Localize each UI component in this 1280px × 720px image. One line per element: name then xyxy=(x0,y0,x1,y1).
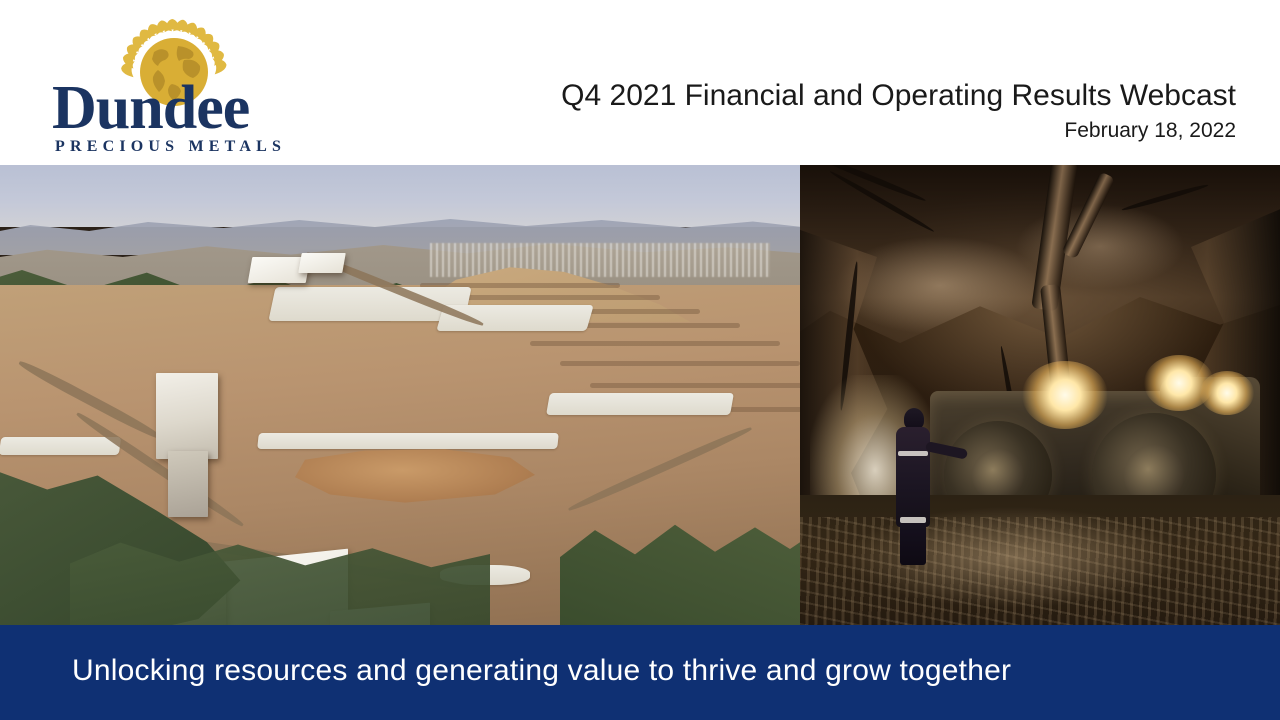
presentation-slide: Dundee PRECIOUS METALS Q4 2021 Financial… xyxy=(0,0,1280,720)
company-logo: Dundee PRECIOUS METALS xyxy=(52,12,297,157)
tailings-liner-pad xyxy=(546,393,734,415)
bench-line xyxy=(530,341,780,346)
slide-header: Dundee PRECIOUS METALS Q4 2021 Financial… xyxy=(0,0,1280,165)
site-building xyxy=(298,253,346,273)
logo-wordmark: Dundee xyxy=(52,82,297,134)
logo-tagline: PRECIOUS METALS xyxy=(55,138,295,156)
headframe-building xyxy=(156,373,218,459)
bench-line xyxy=(440,295,660,300)
banner-tagline: Unlocking resources and generating value… xyxy=(72,649,1011,693)
aerial-mine-site-photo xyxy=(0,165,800,625)
distant-town xyxy=(430,243,770,277)
bench-line xyxy=(590,383,800,388)
truck-marker-light xyxy=(1200,371,1254,415)
title-block: Q4 2021 Financial and Operating Results … xyxy=(456,78,1236,144)
photo-band xyxy=(0,165,1280,625)
miner-legs xyxy=(900,517,926,565)
slide-title: Q4 2021 Financial and Operating Results … xyxy=(456,78,1236,114)
bottom-banner: Unlocking resources and generating value… xyxy=(0,625,1280,720)
slide-date: February 18, 2022 xyxy=(456,118,1236,144)
underground-mine-photo xyxy=(800,165,1280,625)
wheel-hub xyxy=(972,449,1024,501)
bench-line xyxy=(560,361,800,366)
miner-reflective-stripe xyxy=(900,517,926,523)
truck-headlight xyxy=(1022,361,1108,429)
floor-muck-rubble xyxy=(800,517,1280,625)
silo-structure xyxy=(168,451,208,517)
miner-reflective-stripe xyxy=(898,451,928,456)
miner-torso xyxy=(896,427,930,527)
sky xyxy=(0,165,800,227)
tailings-liner-pad xyxy=(257,433,559,449)
tailings-liner-pad xyxy=(0,437,121,455)
